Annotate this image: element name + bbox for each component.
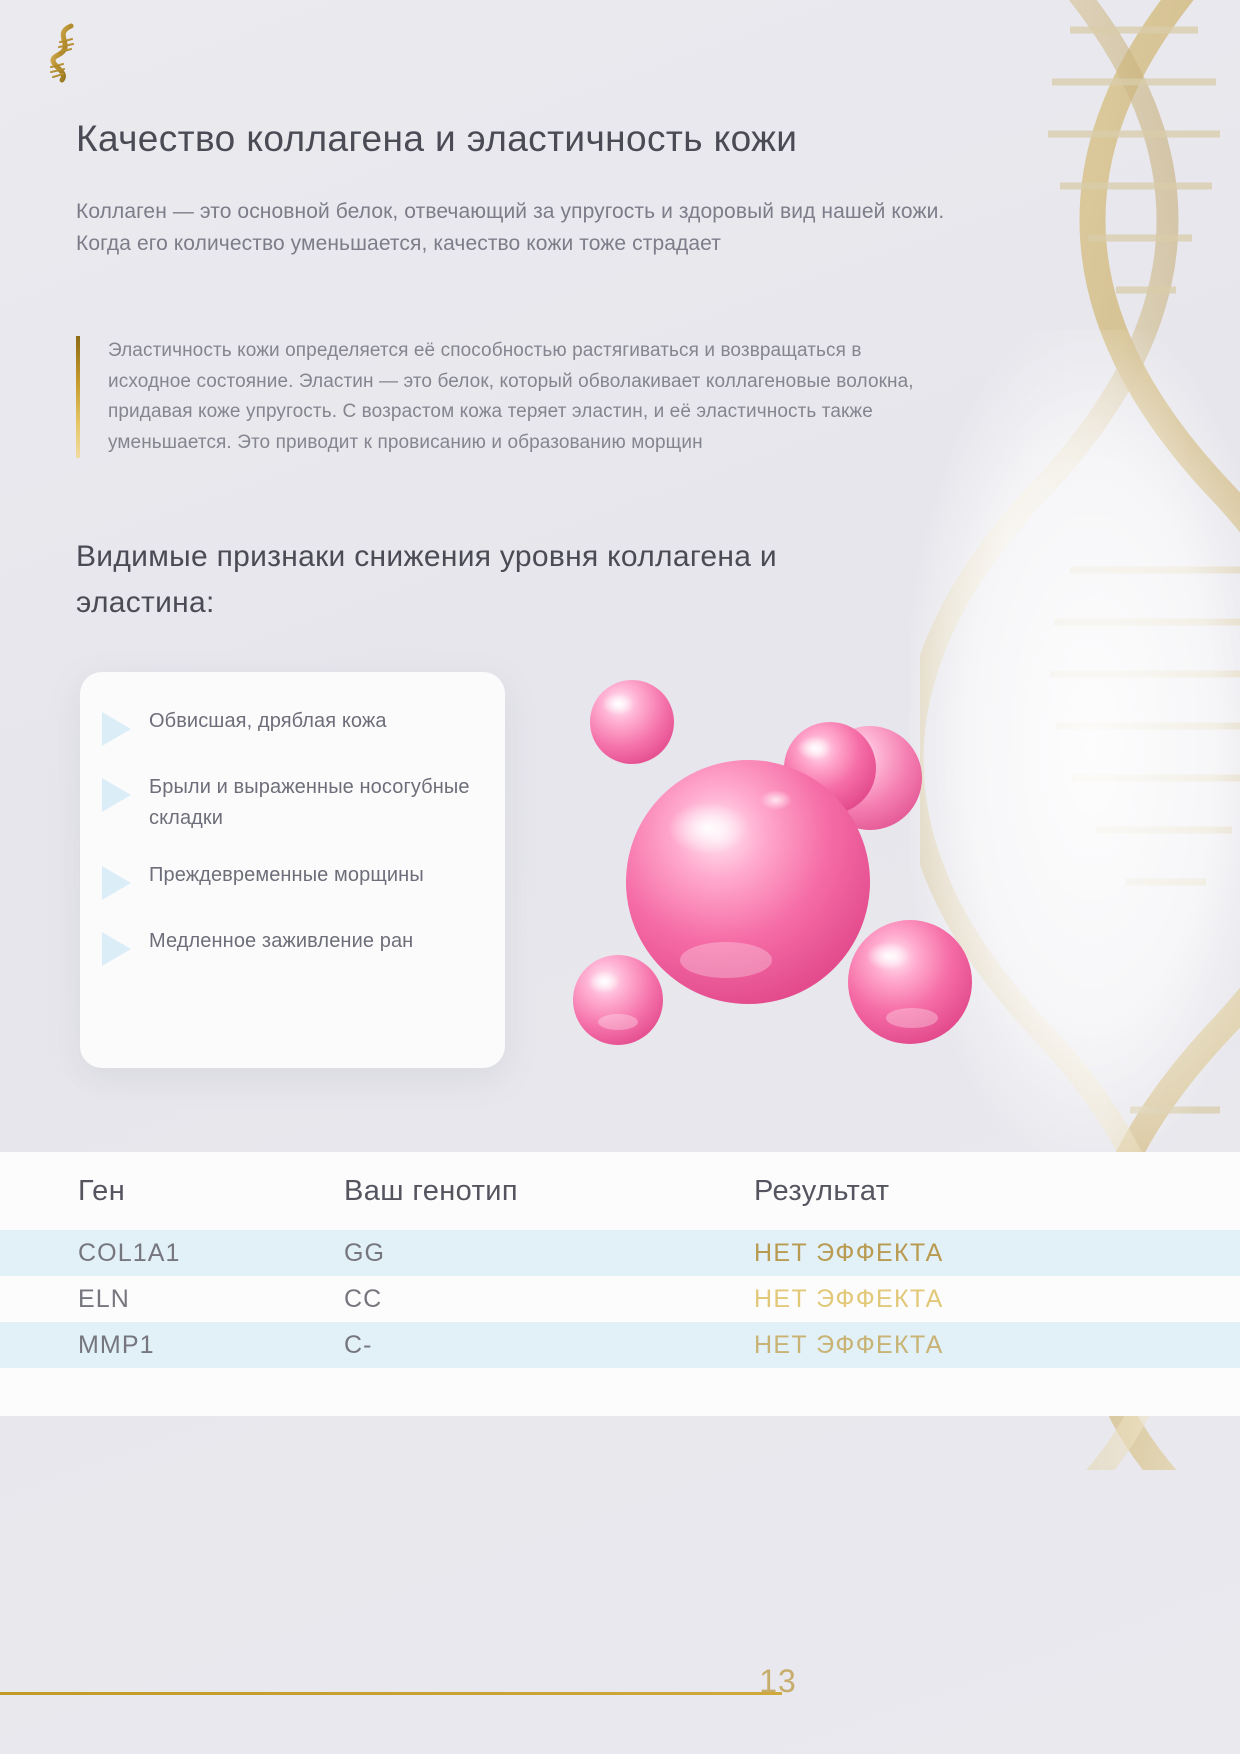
page-title: Качество коллагена и эластичность кожи (76, 118, 797, 160)
column-header-genotype: Ваш генотип (344, 1175, 754, 1208)
visible-signs-card: Обвисшая, дряблая кожа Брыли и выраженны… (80, 672, 505, 1068)
triangle-bullet-icon (102, 932, 131, 966)
column-header-result: Результат (754, 1175, 1240, 1208)
intro-paragraph: Коллаген — это основной белок, отвечающи… (76, 196, 976, 260)
table-row: MMP1 C- НЕТ ЭФФЕКТА (0, 1322, 1240, 1368)
column-header-gene: Ген (0, 1175, 344, 1208)
list-item: Брыли и выраженные носогубные складки (102, 772, 479, 834)
highlight-quote-block: Эластичность кожи определяется её способ… (76, 336, 936, 458)
cell-gene: COL1A1 (0, 1239, 344, 1268)
dna-helix-logo (40, 22, 88, 84)
table-bottom-strip (0, 1368, 1240, 1416)
genotype-table: Ген Ваш генотип Результат COL1A1 GG НЕТ … (0, 1152, 1240, 1368)
triangle-bullet-icon (102, 866, 131, 900)
footer-rule (0, 1692, 782, 1695)
cell-result: НЕТ ЭФФЕКТА (754, 1331, 1240, 1360)
list-item: Медленное заживление ран (102, 926, 479, 966)
list-item-label: Преждевременные морщины (149, 860, 424, 891)
cell-genotype: C- (344, 1331, 754, 1360)
list-item-label: Обвисшая, дряблая кожа (149, 706, 387, 737)
list-item: Преждевременные морщины (102, 860, 479, 900)
cell-genotype: CC (344, 1285, 754, 1314)
page-number: 13 (738, 1663, 818, 1700)
cell-result: НЕТ ЭФФЕКТА (754, 1285, 1240, 1314)
quote-text: Эластичность кожи определяется её способ… (108, 336, 936, 458)
table-header-row: Ген Ваш генотип Результат (0, 1152, 1240, 1230)
signs-heading: Видимые признаки снижения уровня коллаге… (76, 534, 896, 626)
pink-collagen-bubbles-illustration (540, 660, 1060, 1110)
cell-genotype: GG (344, 1239, 754, 1268)
table-row: ELN CC НЕТ ЭФФЕКТА (0, 1276, 1240, 1322)
list-item-label: Брыли и выраженные носогубные складки (149, 772, 479, 834)
page-canvas: Качество коллагена и эластичность кожи К… (0, 0, 1240, 1754)
cell-result: НЕТ ЭФФЕКТА (754, 1239, 1240, 1268)
list-item-label: Медленное заживление ран (149, 926, 413, 957)
triangle-bullet-icon (102, 712, 131, 746)
list-item: Обвисшая, дряблая кожа (102, 706, 479, 746)
triangle-bullet-icon (102, 778, 131, 812)
table-row: COL1A1 GG НЕТ ЭФФЕКТА (0, 1230, 1240, 1276)
cell-gene: ELN (0, 1285, 344, 1314)
cell-gene: MMP1 (0, 1331, 344, 1360)
